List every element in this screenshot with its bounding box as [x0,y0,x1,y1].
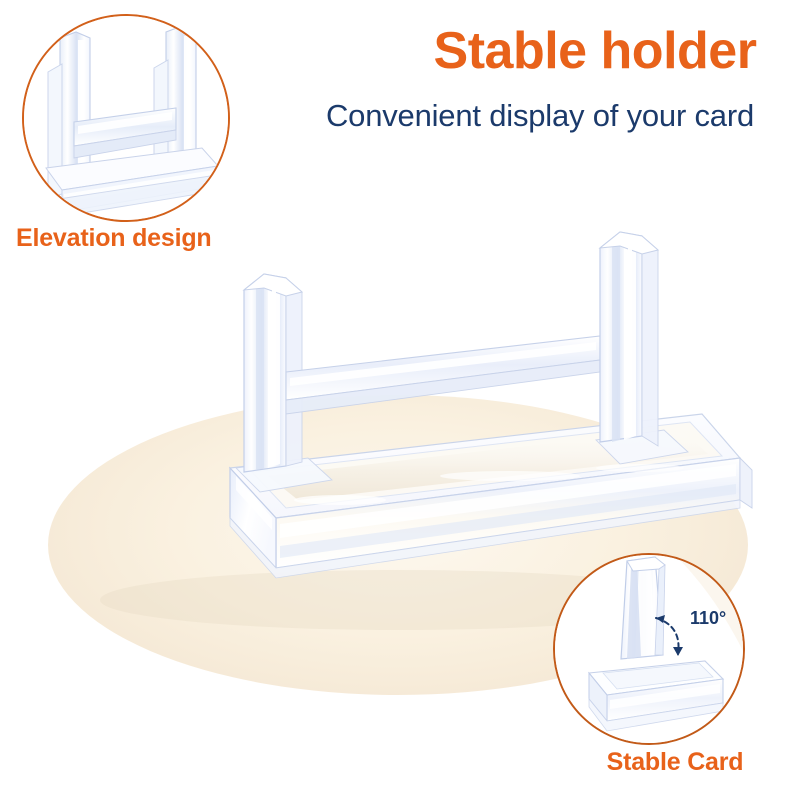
product-infographic: 110° Stable holder Convenient display of… [0,0,800,800]
angle-label: 110° [690,608,726,629]
callout-label-stable-card: Stable Card [560,748,790,777]
inset-elevation-design [22,14,230,222]
callout-label-elevation-design: Elevation design [16,224,211,253]
elevation-design-closeup [24,16,228,220]
page-title: Stable holder [400,24,790,79]
page-subtitle: Convenient display of your card [290,98,790,134]
